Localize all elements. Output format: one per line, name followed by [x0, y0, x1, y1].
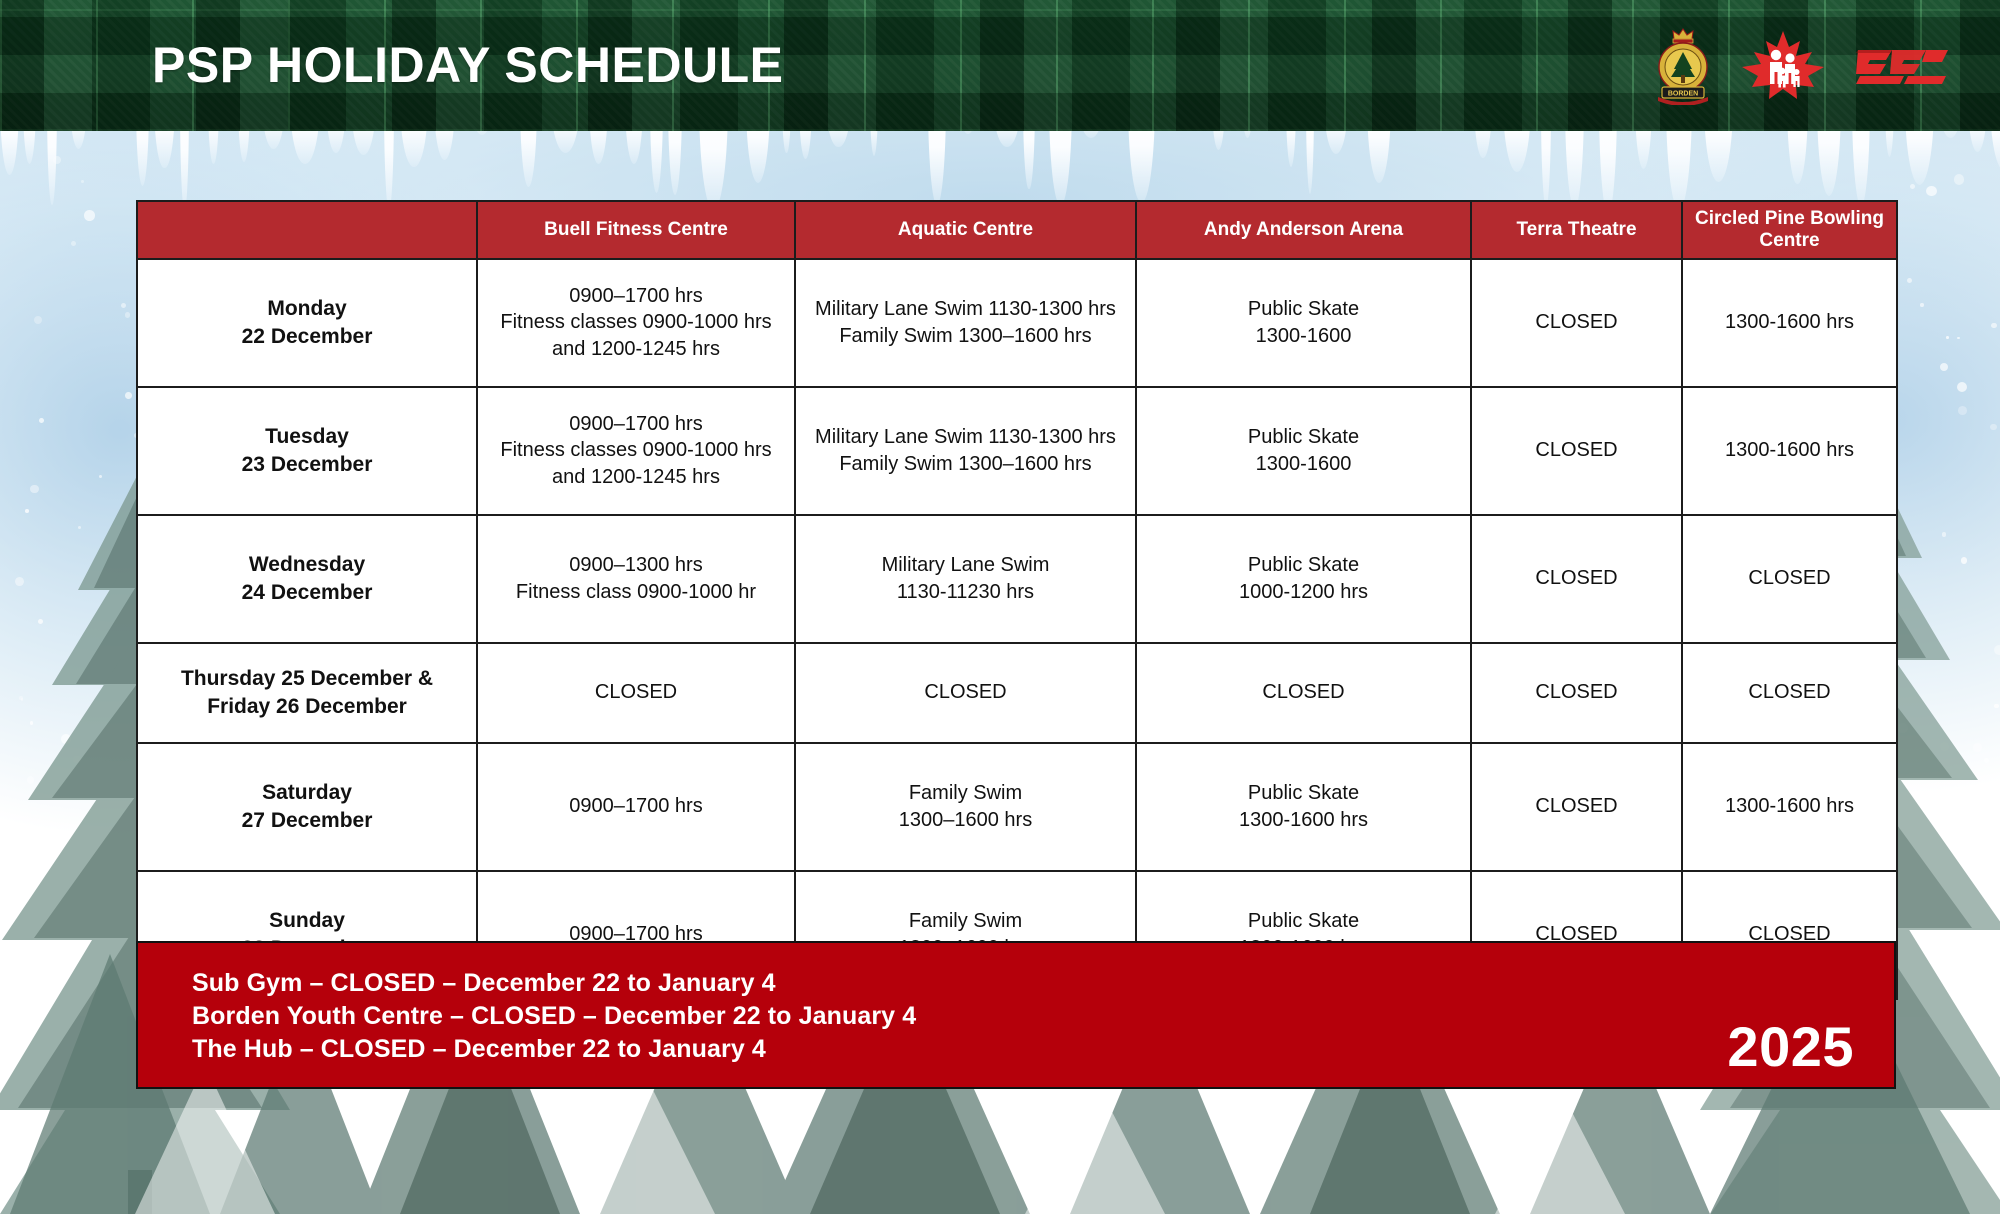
schedule-table-body: Monday22 December0900–1700 hrsFitness cl… — [137, 259, 1897, 999]
schedule-table-container: Buell Fitness Centre Aquatic Centre Andy… — [136, 200, 1896, 1000]
column-header-terra-theatre: Terra Theatre — [1471, 201, 1682, 259]
table-row: Wednesday24 December0900–1300 hrsFitness… — [137, 515, 1897, 643]
snow-speck — [1946, 336, 1949, 339]
cell-buell-fitness-centre: 0900–1300 hrsFitness class 0900-1000 hr — [477, 515, 795, 643]
svg-text:BORDEN: BORDEN — [1668, 91, 1698, 98]
cell-andy-anderson-arena: Public Skate1000-1200 hrs — [1136, 515, 1471, 643]
cell-circled-pine-bowling-centre: 1300-1600 hrs — [1682, 743, 1897, 871]
snow-speck — [125, 312, 131, 318]
table-header-row: Buell Fitness Centre Aquatic Centre Andy… — [137, 201, 1897, 259]
table-row: Monday22 December0900–1700 hrsFitness cl… — [137, 259, 1897, 387]
cell-circled-pine-bowling-centre: CLOSED — [1682, 515, 1897, 643]
psp-holiday-schedule-poster: PSP HOLIDAY SCHEDULE BORDEN — [0, 0, 2000, 1214]
snow-speck — [1991, 323, 1997, 329]
column-header-aquatic-centre: Aquatic Centre — [795, 201, 1136, 259]
table-row: Tuesday23 December0900–1700 hrsFitness c… — [137, 387, 1897, 515]
cell-andy-anderson-arena: Public Skate1300-1600 hrs — [1136, 743, 1471, 871]
closure-notice-bar: Sub Gym – CLOSED – December 22 to Januar… — [136, 941, 1896, 1089]
column-header-buell-fitness-centre: Buell Fitness Centre — [477, 201, 795, 259]
cell-terra-theatre: CLOSED — [1471, 387, 1682, 515]
cell-circled-pine-bowling-centre: 1300-1600 hrs — [1682, 259, 1897, 387]
header-banner: PSP HOLIDAY SCHEDULE BORDEN — [0, 0, 2000, 131]
cell-aquatic-centre: CLOSED — [795, 643, 1136, 743]
closure-notice-line: Borden Youth Centre – CLOSED – December … — [192, 1000, 916, 1033]
year-label: 2025 — [1727, 1014, 1854, 1079]
cell-terra-theatre: CLOSED — [1471, 259, 1682, 387]
cell-aquatic-centre: Military Lane Swim1130-11230 hrs — [795, 515, 1136, 643]
holiday-schedule-table: Buell Fitness Centre Aquatic Centre Andy… — [136, 200, 1898, 1000]
cell-aquatic-centre: Family Swim1300–1600 hrs — [795, 743, 1136, 871]
cell-day: Saturday27 December — [137, 743, 477, 871]
snow-speck — [1940, 363, 1948, 371]
cell-terra-theatre: CLOSED — [1471, 515, 1682, 643]
snow-speck — [1920, 303, 1923, 306]
cell-andy-anderson-arena: Public Skate1300-1600 — [1136, 259, 1471, 387]
page-title: PSP HOLIDAY SCHEDULE — [152, 36, 783, 94]
table-row: Thursday 25 December &Friday 26 December… — [137, 643, 1897, 743]
cell-aquatic-centre: Military Lane Swim 1130-1300 hrsFamily S… — [795, 259, 1136, 387]
cell-day: Monday22 December — [137, 259, 477, 387]
cfb-borden-crest-icon: BORDEN — [1652, 27, 1714, 105]
cell-circled-pine-bowling-centre: 1300-1600 hrs — [1682, 387, 1897, 515]
schedule-table-head: Buell Fitness Centre Aquatic Centre Andy… — [137, 201, 1897, 259]
psp-wordmark-icon — [1852, 42, 1950, 90]
column-header-andy-anderson-arena: Andy Anderson Arena — [1136, 201, 1471, 259]
closure-notice-line: The Hub – CLOSED – December 22 to Januar… — [192, 1033, 916, 1066]
table-row: Saturday27 December0900–1700 hrsFamily S… — [137, 743, 1897, 871]
cell-buell-fitness-centre: 0900–1700 hrsFitness classes 0900-1000 h… — [477, 259, 795, 387]
closure-notice-list: Sub Gym – CLOSED – December 22 to Januar… — [192, 967, 916, 1066]
cell-buell-fitness-centre: CLOSED — [477, 643, 795, 743]
column-header-day — [137, 201, 477, 259]
cell-terra-theatre: CLOSED — [1471, 743, 1682, 871]
cell-andy-anderson-arena: CLOSED — [1136, 643, 1471, 743]
column-header-circled-pine-bowling-centre: Circled Pine Bowling Centre — [1682, 201, 1897, 259]
header-logo-group: BORDEN — [1652, 26, 1950, 106]
cell-day: Tuesday23 December — [137, 387, 477, 515]
snow-speck — [121, 303, 126, 308]
closure-notice-line: Sub Gym – CLOSED – December 22 to Januar… — [192, 967, 916, 1000]
cell-aquatic-centre: Military Lane Swim 1130-1300 hrsFamily S… — [795, 387, 1136, 515]
cell-buell-fitness-centre: 0900–1700 hrsFitness classes 0900-1000 h… — [477, 387, 795, 515]
snow-speck — [125, 392, 132, 399]
cfmws-maple-leaf-icon — [1740, 29, 1826, 103]
snow-speck — [39, 418, 44, 423]
cell-terra-theatre: CLOSED — [1471, 643, 1682, 743]
cell-day: Wednesday24 December — [137, 515, 477, 643]
cell-day: Thursday 25 December &Friday 26 December — [137, 643, 477, 743]
cell-buell-fitness-centre: 0900–1700 hrs — [477, 743, 795, 871]
cell-circled-pine-bowling-centre: CLOSED — [1682, 643, 1897, 743]
cell-andy-anderson-arena: Public Skate1300-1600 — [1136, 387, 1471, 515]
